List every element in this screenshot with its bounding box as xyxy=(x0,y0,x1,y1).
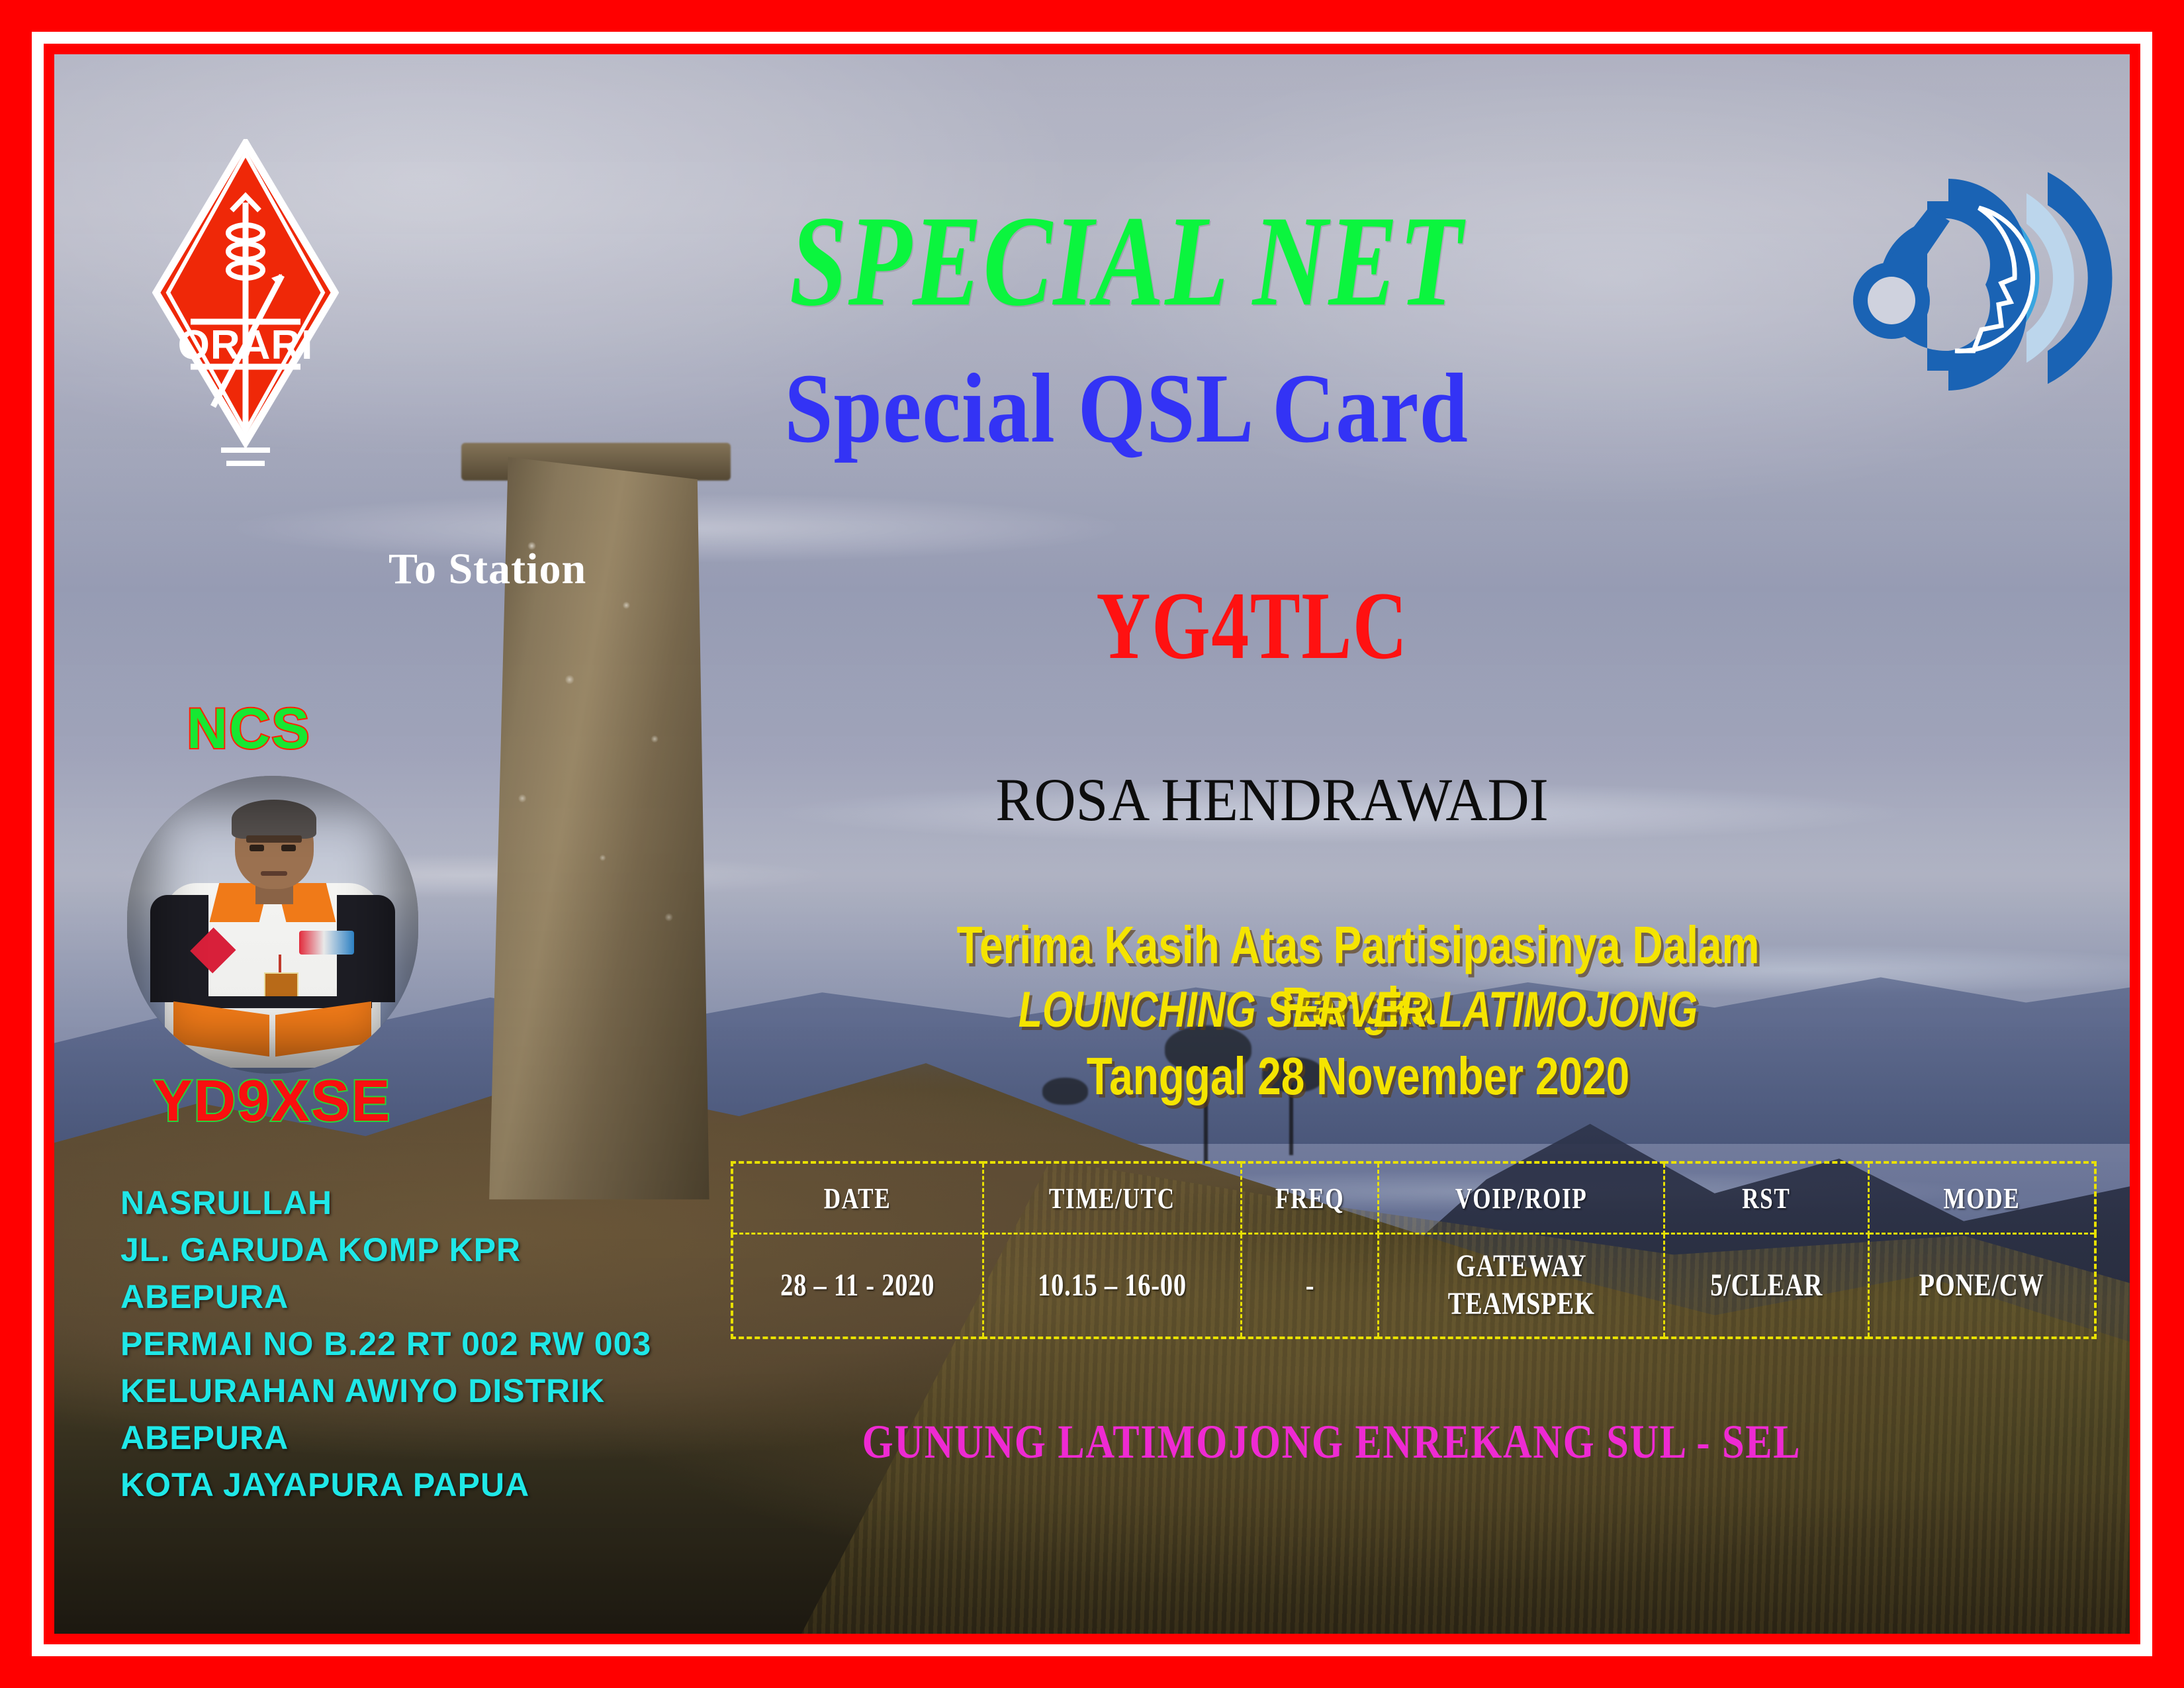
cell-time-utc: 10.15 – 16-00 xyxy=(983,1234,1242,1338)
portrait-vignette xyxy=(127,776,418,1074)
orari-logo: ORARI xyxy=(152,139,339,483)
address-line: ABEPURA xyxy=(120,1415,703,1462)
cell-rst: 5/CLEAR xyxy=(1664,1234,1869,1338)
footer-motto: "AMATIR RADIO ADALAH PROGRESIVE" xyxy=(127,1633,1020,1634)
operator-name: ROSA HENDRAWADI xyxy=(870,769,1674,830)
page-subtitle-qsl-card: Special QSL Card xyxy=(579,359,1674,458)
address-line: KOTA JAYAPURA PAPUA xyxy=(120,1462,703,1509)
card-background-photo: ORARI xyxy=(54,54,2130,1634)
address-line: ABEPURA xyxy=(120,1274,703,1321)
cell-date: 28 – 11 - 2020 xyxy=(732,1234,983,1338)
cell-freq: - xyxy=(1242,1234,1379,1338)
headphone-face-logo xyxy=(1849,152,2127,404)
table-header-time-utc: TIME/UTC xyxy=(983,1162,1242,1234)
address-line: KELURAHAN AWIYO DISTRIK xyxy=(120,1368,703,1415)
ncs-operator-portrait xyxy=(127,776,418,1074)
thanks-line-2-event: LOUNCHING SERVER LATIMOJONG xyxy=(888,981,1828,1039)
qsl-card: ORARI xyxy=(0,0,2184,1688)
page-title-special-net: SPECIAL NET xyxy=(629,197,1624,326)
thanks-line-3-date: Tanggal 28 November 2020 xyxy=(876,1046,1840,1107)
cell-voip-roip: GATEWAY TEAMSPEK xyxy=(1379,1234,1664,1338)
ncs-label: NCS xyxy=(187,696,311,762)
address-line: PERMAI NO B.22 RT 002 RW 003 xyxy=(120,1321,703,1368)
location-line: GUNUNG LATIMOJONG ENREKANG SUL - SEL xyxy=(803,1415,1860,1470)
table-header-mode: MODE xyxy=(1869,1162,2095,1234)
orari-logo-text: ORARI xyxy=(178,322,314,368)
address-line: JL. GARUDA KOMP KPR xyxy=(120,1227,703,1274)
recipient-callsign: YG4TLC xyxy=(1020,577,1484,674)
table-header-freq: FREQ xyxy=(1242,1162,1379,1234)
table-header-rst: RST xyxy=(1664,1162,1869,1234)
cell-mode: PONE/CW xyxy=(1869,1234,2095,1338)
address-line: NASRULLAH xyxy=(120,1180,703,1227)
table-header-voip-roip: VOIP/ROIP xyxy=(1379,1162,1664,1234)
card-white-frame: ORARI xyxy=(32,32,2152,1656)
footer-web-address: Address : amatir.latimojong.com xyxy=(1298,1633,1893,1634)
to-station-label: To Station xyxy=(388,544,586,594)
table-header-row: DATE TIME/UTC FREQ VOIP/ROIP RST MODE xyxy=(732,1162,2095,1234)
card-inner-red-frame: ORARI xyxy=(44,44,2140,1644)
table-row: 28 – 11 - 2020 10.15 – 16-00 - GATEWAY T… xyxy=(732,1234,2095,1338)
mailing-address-block: NASRULLAH JL. GARUDA KOMP KPR ABEPURA PE… xyxy=(120,1180,703,1509)
ncs-callsign: YD9XSE xyxy=(154,1067,391,1135)
qso-details-table: DATE TIME/UTC FREQ VOIP/ROIP RST MODE 28… xyxy=(731,1161,2097,1339)
table-header-date: DATE xyxy=(732,1162,983,1234)
